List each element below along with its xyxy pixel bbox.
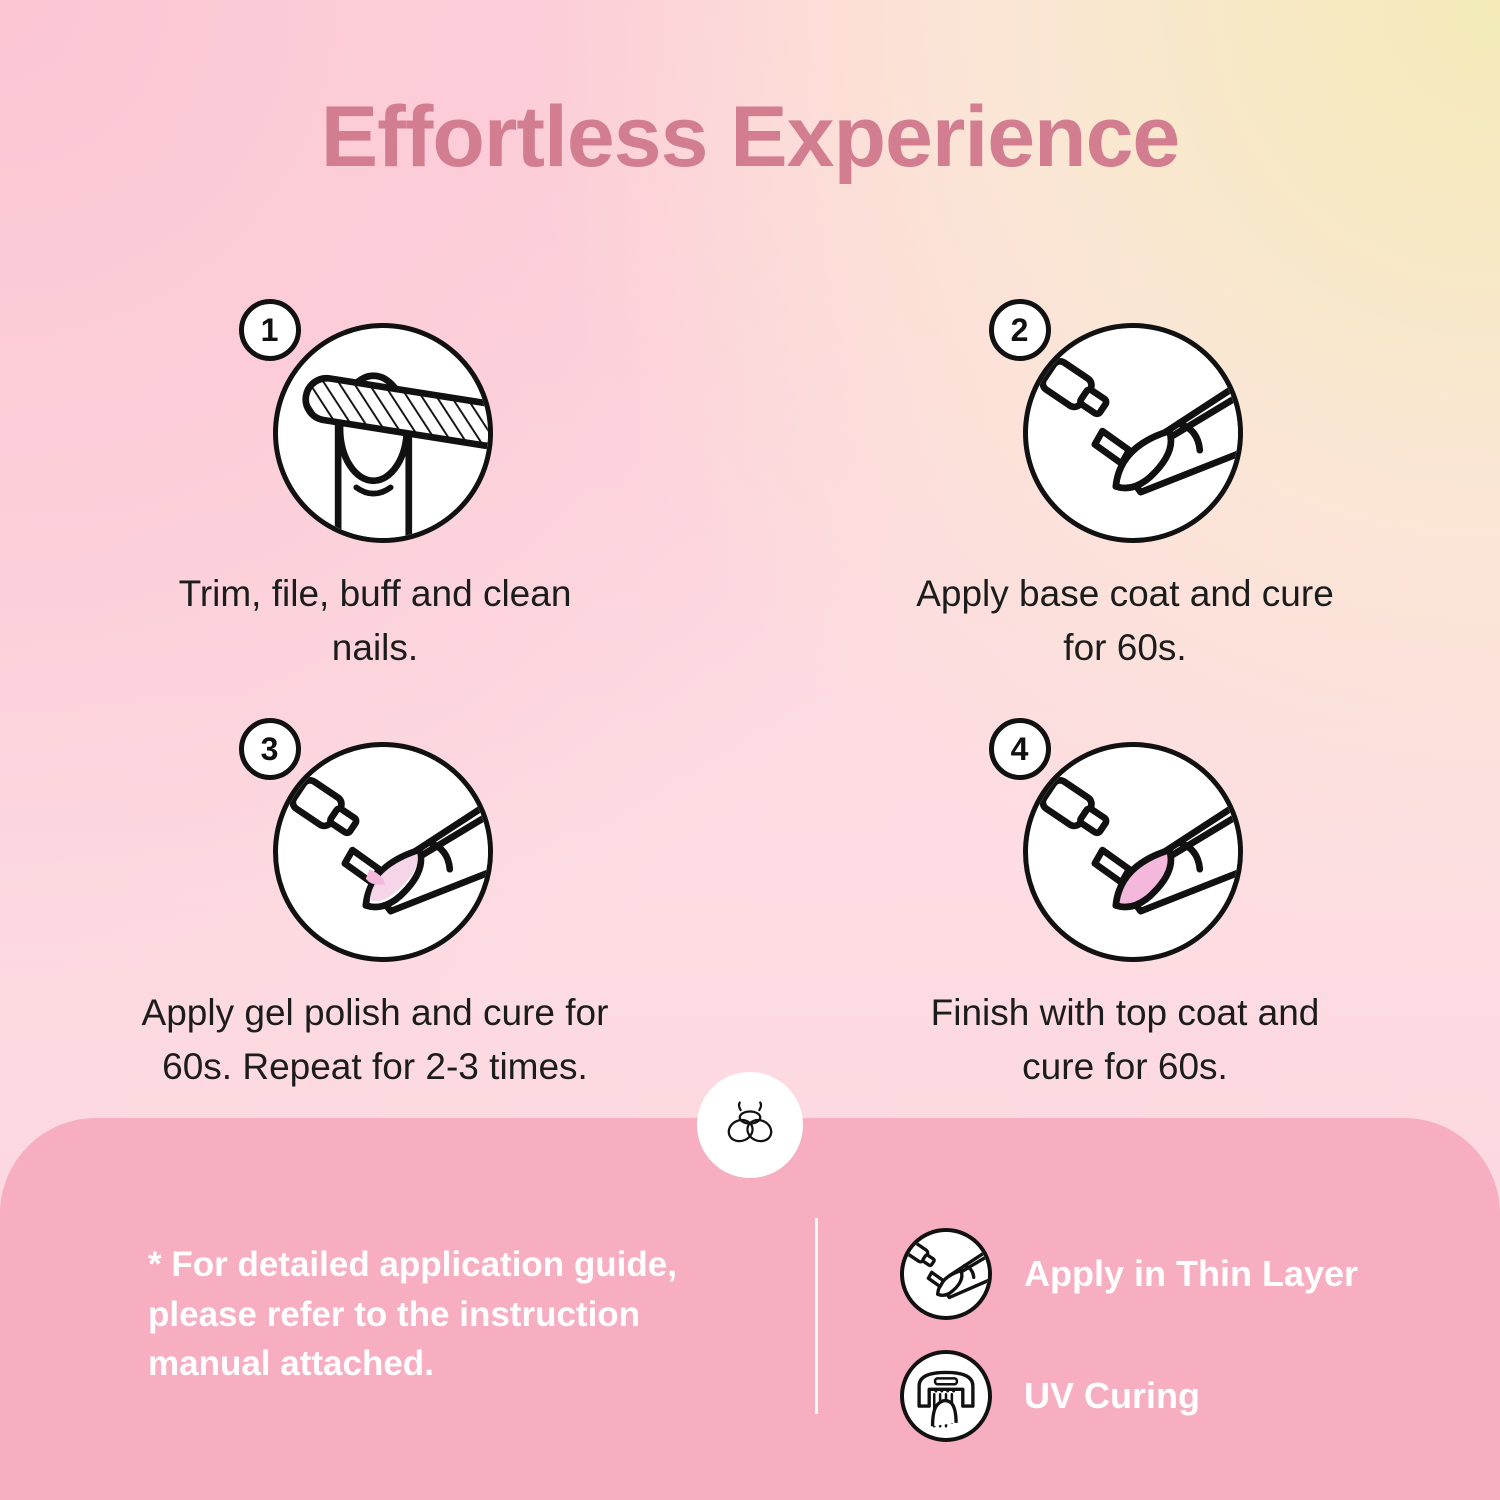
step-1-number: 1 bbox=[239, 299, 301, 361]
step-4-number: 4 bbox=[989, 718, 1051, 780]
step-4-illustration-wrap: 4 bbox=[973, 714, 1278, 964]
page-title: Effortless Experience bbox=[0, 92, 1500, 182]
step-2-number: 2 bbox=[989, 299, 1051, 361]
feature-thin-layer-label: Apply in Thin Layer bbox=[1024, 1253, 1358, 1295]
step-3-illustration-wrap: 3 bbox=[223, 714, 528, 964]
uv-lamp-icon bbox=[900, 1350, 992, 1442]
step-3-caption: Apply gel polish and cure for 60s. Repea… bbox=[140, 986, 610, 1093]
steps-container: 1 Trim, file, buff and clean nails. bbox=[0, 295, 1500, 1094]
steps-row-2: 3 Apply gel polish and cure for 60s. Rep… bbox=[0, 714, 1500, 1093]
step-3: 3 Apply gel polish and cure for 60s. Rep… bbox=[0, 714, 750, 1093]
step-1-caption: Trim, file, buff and clean nails. bbox=[140, 567, 610, 674]
footer-note: * For detailed application guide, please… bbox=[148, 1240, 768, 1389]
nail-file-icon bbox=[273, 323, 493, 543]
step-1-illustration-wrap: 1 bbox=[223, 295, 528, 545]
footer-features: Apply in Thin Layer bbox=[900, 1228, 1358, 1472]
page-root: Effortless Experience bbox=[0, 0, 1500, 1500]
gel-polish-brush-icon bbox=[273, 742, 493, 962]
steps-row-1: 1 Trim, file, buff and clean nails. bbox=[0, 295, 1500, 674]
feature-uv-curing-label: UV Curing bbox=[1024, 1375, 1200, 1417]
step-4: 4 Finish with top coat and cure for 60s. bbox=[750, 714, 1500, 1093]
butterfly-logo-icon bbox=[697, 1072, 803, 1178]
step-3-number: 3 bbox=[239, 718, 301, 780]
footer-divider bbox=[815, 1218, 818, 1414]
step-1: 1 Trim, file, buff and clean nails. bbox=[0, 295, 750, 674]
top-coat-brush-icon bbox=[1023, 742, 1243, 962]
feature-uv-curing: UV Curing bbox=[900, 1350, 1358, 1442]
step-2-illustration-wrap: 2 bbox=[973, 295, 1278, 545]
base-coat-brush-icon bbox=[1023, 323, 1243, 543]
feature-thin-layer: Apply in Thin Layer bbox=[900, 1228, 1358, 1320]
step-2-caption: Apply base coat and cure for 60s. bbox=[890, 567, 1360, 674]
step-4-caption: Finish with top coat and cure for 60s. bbox=[890, 986, 1360, 1093]
thin-layer-brush-icon bbox=[900, 1228, 992, 1320]
step-2: 2 Apply base coat and cure for 60s. bbox=[750, 295, 1500, 674]
